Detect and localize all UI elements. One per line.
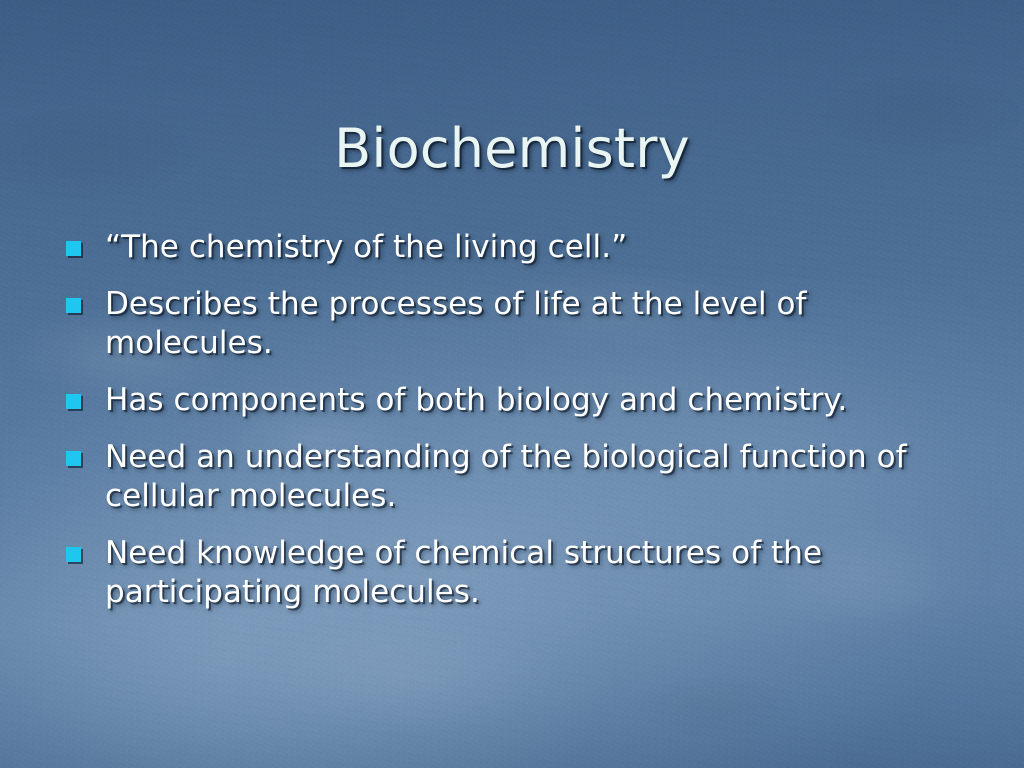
square-bullet-icon xyxy=(66,394,81,409)
presentation-slide: Biochemistry “The chemistry of the livin… xyxy=(0,0,1024,768)
square-bullet-icon xyxy=(66,547,81,562)
slide-body-content: “The chemistry of the living cell.” Desc… xyxy=(60,228,972,612)
square-bullet-icon xyxy=(66,241,81,256)
list-item-label: Need knowledge of chemical structures of… xyxy=(105,534,972,612)
list-item: “The chemistry of the living cell.” xyxy=(60,228,972,267)
list-item: Need knowledge of chemical structures of… xyxy=(60,534,972,612)
list-item-label: Has components of both biology and chemi… xyxy=(105,381,972,420)
list-item-label: “The chemistry of the living cell.” xyxy=(105,228,972,267)
list-item: Has components of both biology and chemi… xyxy=(60,381,972,420)
list-item: Need an understanding of the biological … xyxy=(60,438,972,516)
list-item-label: Need an understanding of the biological … xyxy=(105,438,972,516)
square-bullet-icon xyxy=(66,451,81,466)
list-item-label: Describes the processes of life at the l… xyxy=(105,285,972,363)
list-item: Describes the processes of life at the l… xyxy=(60,285,972,363)
square-bullet-icon xyxy=(66,298,81,313)
slide-title: Biochemistry xyxy=(0,118,1024,180)
